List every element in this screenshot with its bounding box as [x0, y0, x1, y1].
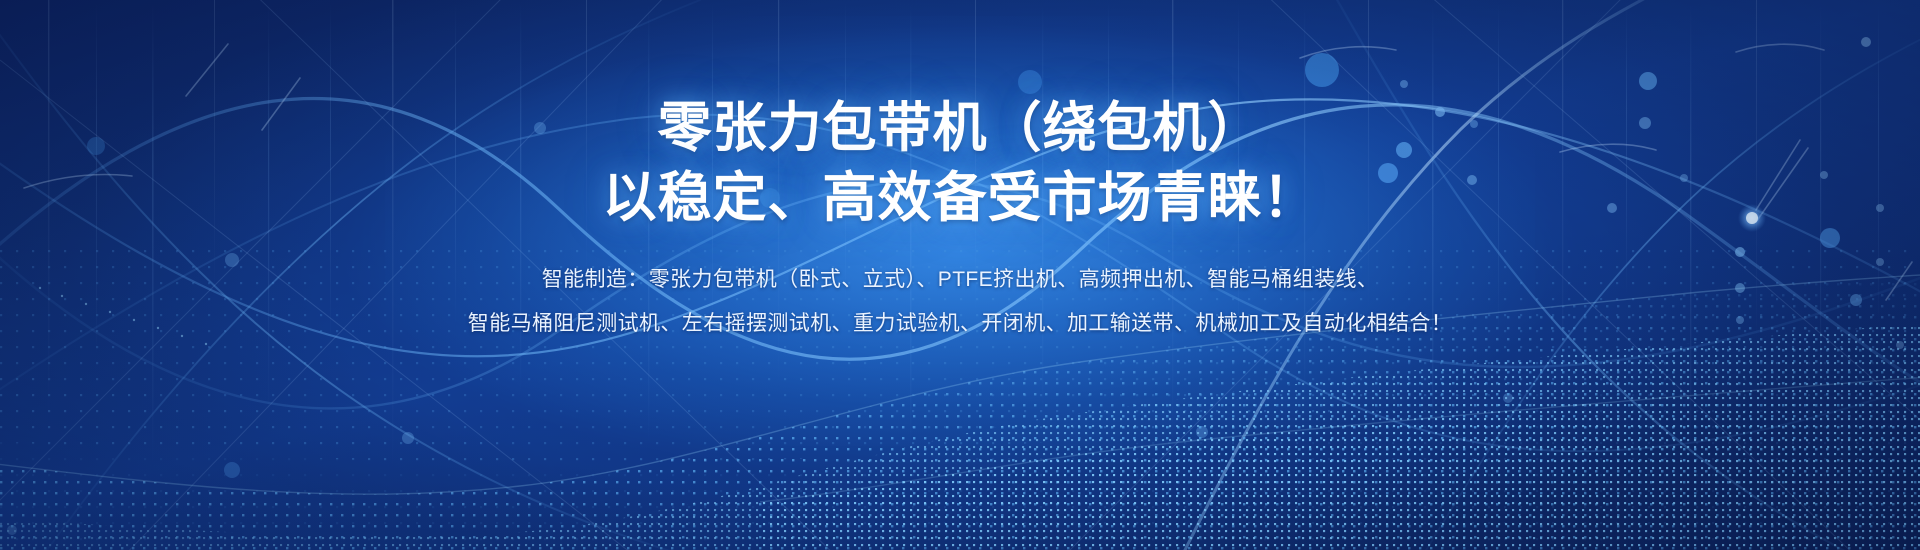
subtitle-line-1: 智能制造：零张力包带机（卧式、立式）、PTFE挤出机、高频押出机、智能马桶组装线…	[468, 258, 1452, 302]
banner-content: 零张力包带机（绕包机） 以稳定、高效备受市场青睐！ 智能制造：零张力包带机（卧式…	[0, 0, 1920, 550]
headline-line-2: 以稳定、高效备受市场青睐！	[603, 166, 1318, 230]
headline-line-1: 零张力包带机（绕包机）	[658, 96, 1263, 160]
subtitle-line-2: 智能马桶阻尼测试机、左右摇摆测试机、重力试验机、开闭机、加工输送带、机械加工及自…	[468, 302, 1452, 346]
subtitle-block: 智能制造：零张力包带机（卧式、立式）、PTFE挤出机、高频押出机、智能马桶组装线…	[468, 258, 1452, 346]
promo-banner: 零张力包带机（绕包机） 以稳定、高效备受市场青睐！ 智能制造：零张力包带机（卧式…	[0, 0, 1920, 550]
